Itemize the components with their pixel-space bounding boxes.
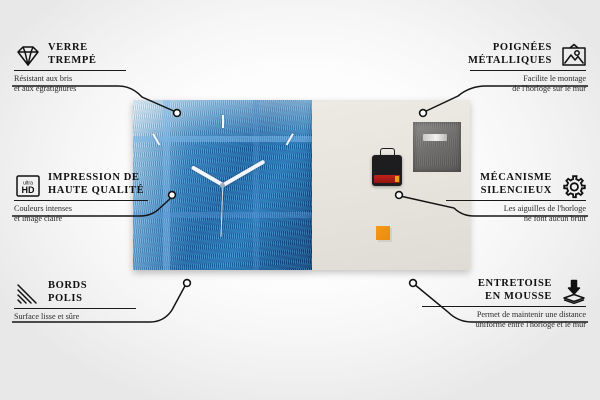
callout-header: VERRE TREMPÉ <box>14 42 214 67</box>
callout-desc-line2: ne font aucun bruit <box>386 214 586 224</box>
feature-callout-entretoise-en-mousse: ENTRETOISE EN MOUSSE Permet de maintenir… <box>386 278 586 330</box>
callout-title: VERRE TREMPÉ <box>48 42 97 67</box>
foam-spacer-pad <box>376 226 390 240</box>
callout-desc-line1: Permet de maintenir une distance <box>386 310 586 320</box>
clock-front-panel <box>133 100 312 270</box>
gear-icon <box>560 173 586 197</box>
callout-desc-line2: uniforme entre l'horloge et le mur <box>386 320 586 330</box>
callout-title: ENTRETOISE EN MOUSSE <box>478 278 552 303</box>
callout-desc-line1: Résistant aux bris <box>14 74 214 84</box>
callout-desc-line1: Surface lisse et sûre <box>14 312 214 322</box>
callout-desc-line2: de l'horloge sur le mur <box>386 84 586 94</box>
callout-header: MÉCANISME SILENCIEUX <box>386 172 586 197</box>
clock-second-hand <box>220 185 223 237</box>
callout-desc-line1: Facilite le montage <box>386 74 586 84</box>
clock-hour-hand <box>190 165 223 186</box>
callout-desc-line1: Les aiguilles de l'horloge <box>386 204 586 214</box>
feature-callout-poignees-metalliques: POIGNÉES MÉTALLIQUES Facilite le montage… <box>386 42 586 94</box>
hour-tick <box>285 133 293 145</box>
callout-desc-line2: et aux égratignures <box>14 84 214 94</box>
infographic-canvas: VERRE TREMPÉ Résistant aux bris et aux é… <box>0 0 600 400</box>
clock-center-cap <box>220 183 225 188</box>
hour-tick <box>152 133 160 145</box>
hanging-frame-icon <box>560 43 586 67</box>
callout-divider <box>446 200 586 201</box>
callout-title: BORDS POLIS <box>48 280 87 305</box>
foam-spacer-icon <box>560 279 586 303</box>
callout-divider <box>14 200 148 201</box>
clock-dial <box>133 100 312 270</box>
callout-divider <box>470 70 586 71</box>
feature-callout-bords-polis: BORDS POLIS Surface lisse et sûre <box>14 280 214 322</box>
callout-title: IMPRESSION DE HAUTE QUALITÉ <box>48 172 144 197</box>
ultra-hd-icon: ultra HD <box>14 173 40 197</box>
callout-header: BORDS POLIS <box>14 280 214 305</box>
callout-title: POIGNÉES MÉTALLIQUES <box>468 42 552 67</box>
svg-text:HD: HD <box>22 185 35 195</box>
callout-divider <box>422 306 586 307</box>
hour-tick <box>222 115 224 128</box>
callout-divider <box>14 308 136 309</box>
polished-edges-icon <box>14 281 40 305</box>
callout-title: MÉCANISME SILENCIEUX <box>480 172 552 197</box>
callout-divider <box>14 70 126 71</box>
diamond-icon <box>14 43 40 67</box>
feature-callout-verre-trempe: VERRE TREMPÉ Résistant aux bris et aux é… <box>14 42 214 94</box>
metal-hanger-plate <box>413 122 461 172</box>
clock-minute-hand <box>222 159 265 186</box>
feature-callout-mecanisme-silencieux: MÉCANISME SILENCIEUX Les aiguilles de l'… <box>386 172 586 224</box>
callout-header: POIGNÉES MÉTALLIQUES <box>386 42 586 67</box>
callout-header: ENTRETOISE EN MOUSSE <box>386 278 586 303</box>
